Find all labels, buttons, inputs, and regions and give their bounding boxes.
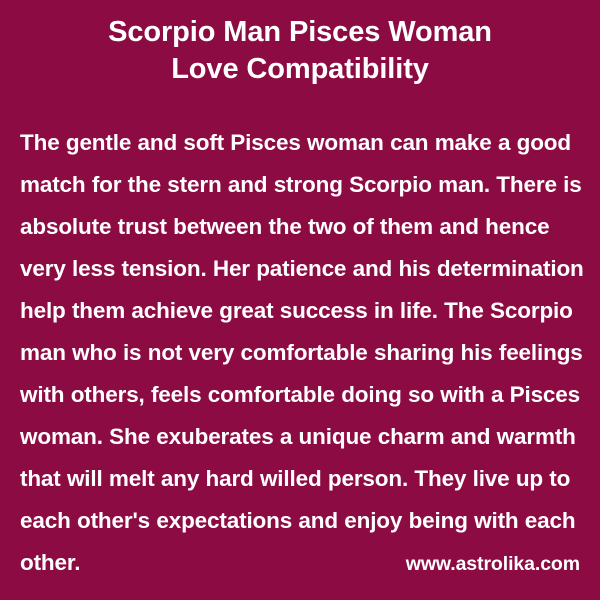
compatibility-description: The gentle and soft Pisces woman can mak… bbox=[20, 122, 588, 584]
website-credit: www.astrolika.com bbox=[0, 553, 580, 576]
title-line-1: Scorpio Man Pisces Woman bbox=[0, 14, 600, 51]
title-line-2: Love Compatibility bbox=[0, 51, 600, 88]
compatibility-card: Scorpio Man Pisces Woman Love Compatibil… bbox=[0, 0, 600, 600]
page-title: Scorpio Man Pisces Woman Love Compatibil… bbox=[0, 14, 600, 88]
